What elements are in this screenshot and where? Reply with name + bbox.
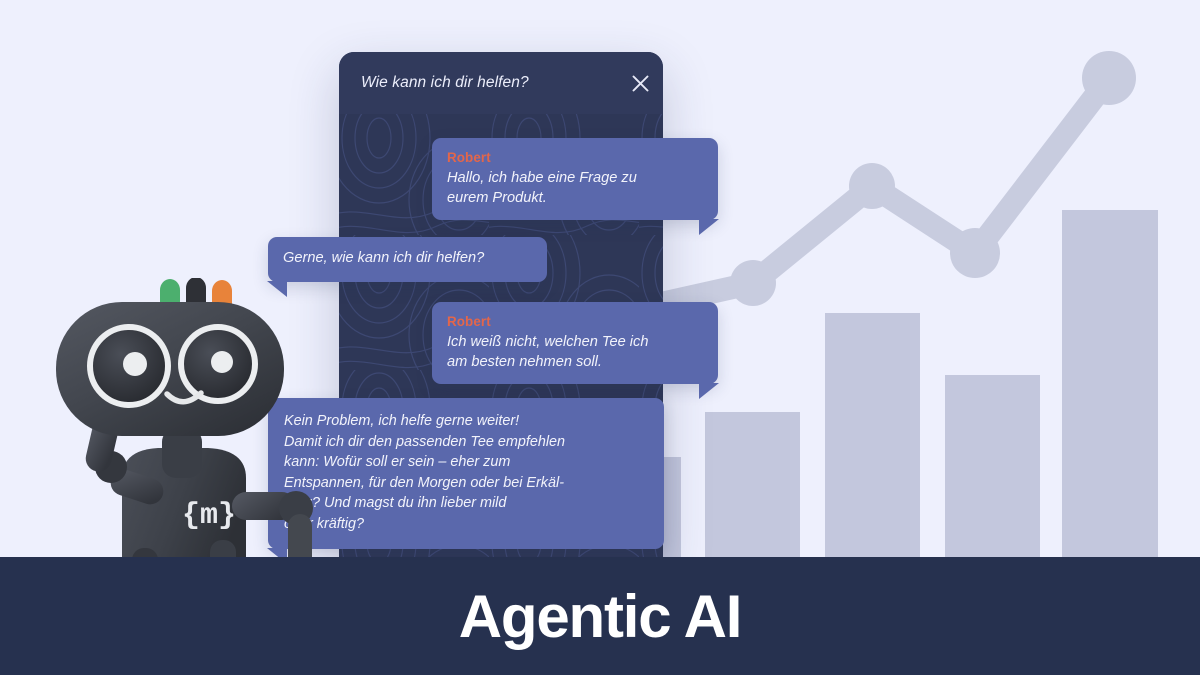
message-text: Hallo, ich habe eine Frage zu eurem Prod… — [447, 169, 703, 208]
message-text: Kein Problem, ich helfe gerne weiter! Da… — [284, 411, 648, 535]
close-icon[interactable] — [617, 52, 663, 114]
bar-2 — [705, 412, 800, 557]
line-node-4 — [1082, 51, 1136, 105]
bubble-tail — [699, 383, 719, 399]
chat-panel-header: Wie kann ich dir helfen? — [339, 52, 663, 114]
line-node-2 — [849, 163, 895, 209]
poster-canvas: Wie kann ich dir helfen? Robert Hallo, i… — [0, 0, 1200, 675]
message-text: Gerne, wie kann ich dir helfen? — [283, 249, 532, 269]
footer-bar: Agentic AI — [0, 557, 1200, 675]
chat-bubble-bot-2[interactable]: Kein Problem, ich helfe gerne weiter! Da… — [268, 398, 664, 549]
message-sender: Robert — [447, 313, 703, 331]
antenna-nubs — [160, 278, 232, 306]
bar-3 — [825, 313, 920, 557]
line-node-1 — [730, 260, 776, 306]
message-sender: Robert — [447, 149, 703, 167]
robot-mascot: {m} — [10, 278, 320, 568]
chat-bubble-bot-1[interactable]: Gerne, wie kann ich dir helfen? — [268, 237, 547, 282]
chat-bubble-user-2[interactable]: Robert Ich weiß nicht, welchen Tee ich a… — [432, 302, 718, 384]
bar-4 — [945, 375, 1040, 557]
message-text: Ich weiß nicht, welchen Tee ich am beste… — [447, 333, 703, 372]
bubble-tail — [699, 219, 719, 235]
line-node-3 — [950, 228, 1000, 278]
bar-5 — [1062, 210, 1158, 557]
page-title: Agentic AI — [459, 582, 741, 651]
antenna-dark — [186, 278, 206, 306]
chart-bars — [655, 210, 1158, 557]
chat-bubble-user-1[interactable]: Robert Hallo, ich habe eine Frage zu eur… — [432, 138, 718, 220]
chat-panel-title: Wie kann ich dir helfen? — [339, 74, 617, 92]
chest-logo: {m} — [182, 499, 236, 533]
antenna-green — [160, 279, 180, 306]
